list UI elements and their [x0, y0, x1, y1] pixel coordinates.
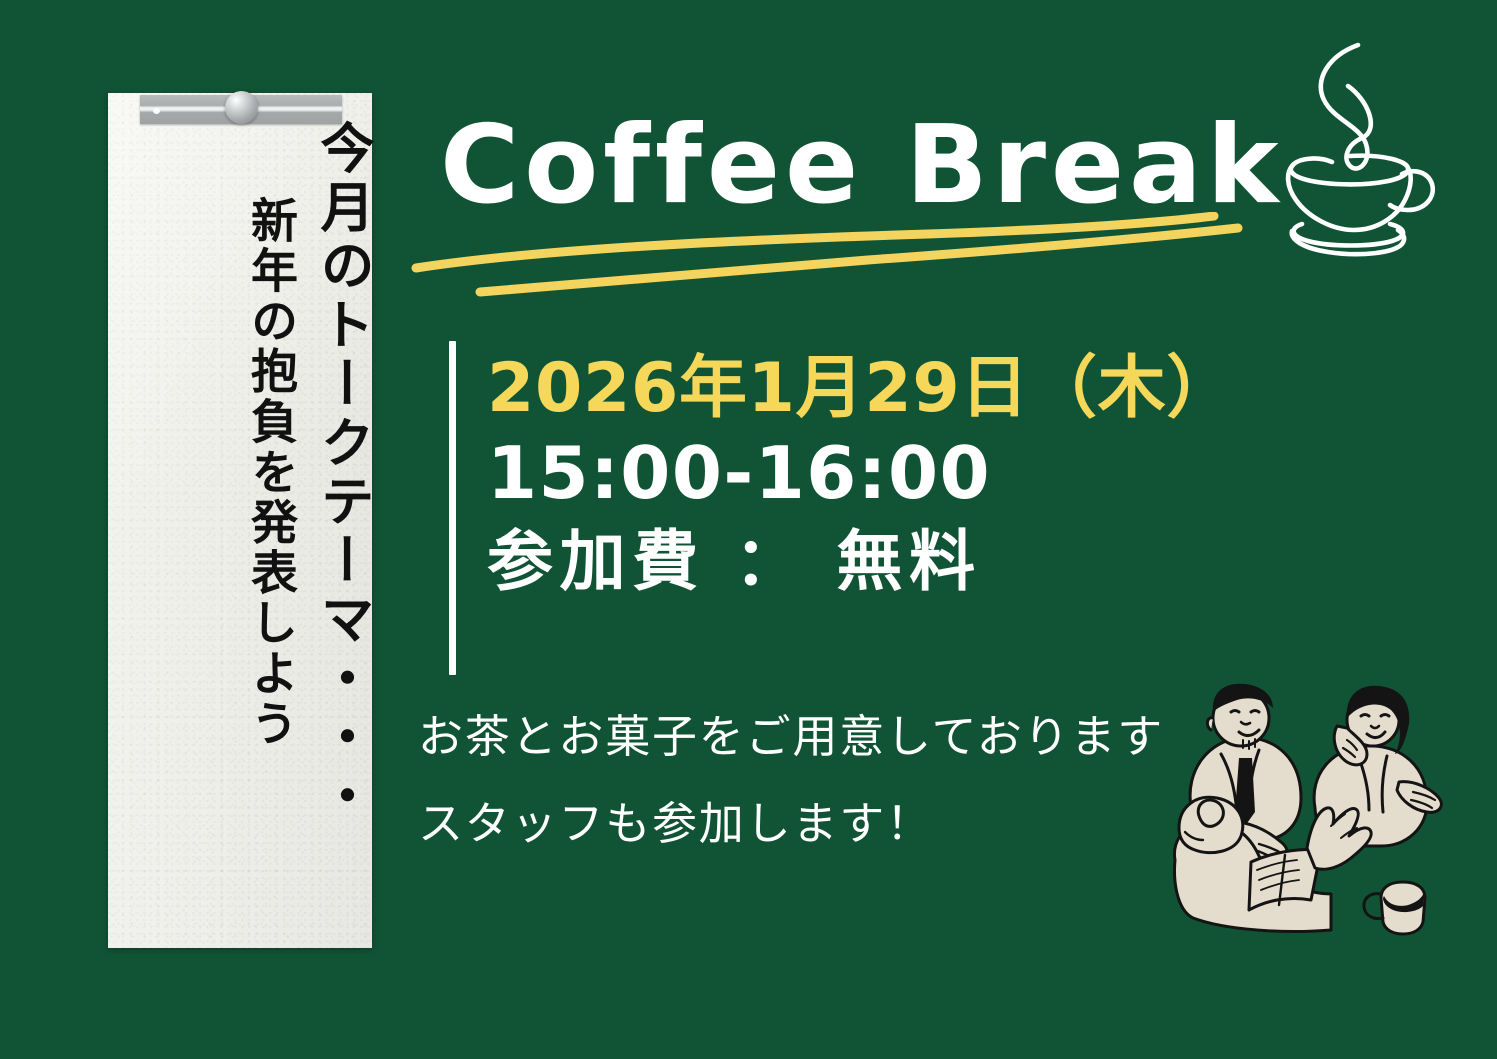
poster-canvas: 今月のトークテーマ・・・ 新年の抱負を発表しよう Coffee Break 20…: [0, 0, 1497, 1059]
info-vertical-rule: [449, 341, 456, 675]
event-info-block: 2026年1月29日（木） 15:00-16:00 参加費 ： 無料: [487, 352, 1387, 602]
people-chatting-icon: [1155, 662, 1475, 952]
note-line-1: お茶とお菓子をご用意しております: [418, 714, 1198, 759]
page-title: Coffee Break: [440, 112, 1283, 220]
event-time: 15:00-16:00: [487, 431, 1387, 516]
note-line-2: スタッフも参加します！: [418, 801, 1198, 846]
event-fee: 参加費 ： 無料: [487, 522, 1387, 601]
notes-block: お茶とお菓子をご用意しております スタッフも参加します！: [418, 714, 1198, 846]
note-vertical-text-main: 今月のトークテーマ・・・: [316, 120, 370, 826]
clip-knob-icon: [225, 91, 258, 124]
event-date: 2026年1月29日（木）: [487, 352, 1387, 425]
note-vertical-text-sub: 新年の抱負を発表しよう: [246, 196, 293, 749]
coffee-cup-icon: [1262, 34, 1462, 274]
